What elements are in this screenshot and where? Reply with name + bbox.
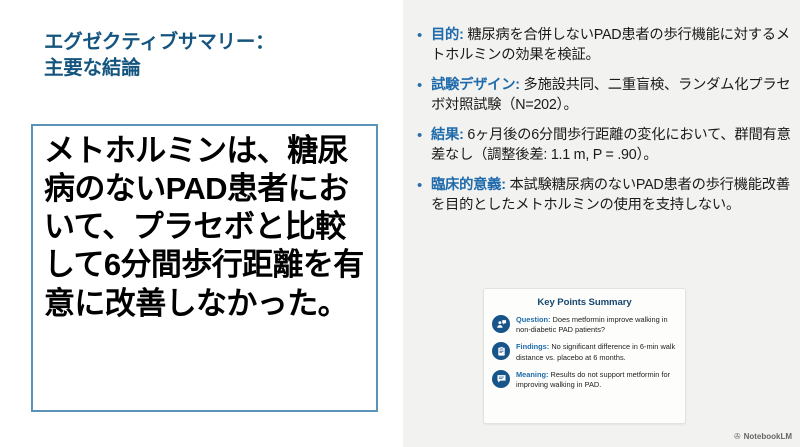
question-person-icon (492, 315, 510, 333)
key-point-row: Findings: No significant difference in 6… (492, 342, 685, 362)
clipboard-icon (492, 342, 510, 360)
notebooklm-logo-icon: ✇ (734, 433, 741, 441)
key-points-summary-card: Key Points Summary Question: Does metfor… (483, 288, 686, 424)
key-point-row: Question: Does metformin improve walking… (492, 315, 685, 335)
key-point-label: Findings: (516, 342, 549, 351)
key-point-row: Meaning: Results do not support metformi… (492, 370, 685, 390)
list-item: • 結果: 6ヶ月後の6分間歩行距離の変化において、群間有意差なし（調整後差: … (416, 126, 792, 165)
slide-canvas: エグゼクティブサマリー： 主要な結論 メトホルミンは、糖尿病のないPAD患者にお… (0, 0, 800, 447)
bullet-label: 結果: (431, 127, 464, 143)
key-point-label: Question: (516, 315, 551, 324)
left-panel: エグゼクティブサマリー： 主要な結論 メトホルミンは、糖尿病のないPAD患者にお… (0, 0, 403, 447)
list-item: • 試験デザイン: 多施設共同、二重盲検、ランダム化プラセボ対照試験（N=202… (416, 76, 792, 115)
bullet-marker-icon: • (416, 126, 431, 165)
speech-bubble-icon (492, 370, 510, 388)
bullet-body: 試験デザイン: 多施設共同、二重盲検、ランダム化プラセボ対照試験（N=202）。 (431, 76, 792, 115)
key-points-title: Key Points Summary (484, 297, 685, 308)
bullet-marker-icon: • (416, 76, 431, 115)
key-point-text: Findings: No significant difference in 6… (516, 342, 678, 362)
key-point-text: Meaning: Results do not support metformi… (516, 370, 678, 390)
bullet-text: 6ヶ月後の6分間歩行距離の変化において、群間有意差なし（調整後差: 1.1 m,… (431, 127, 791, 163)
notebooklm-label: NotebookLM (744, 432, 792, 441)
bullet-text: 糖尿病を合併しないPAD患者の歩行機能に対するメトホルミンの効果を検証。 (431, 27, 790, 63)
bullet-marker-icon: • (416, 176, 431, 215)
bullet-list: • 目的: 糖尿病を合併しないPAD患者の歩行機能に対するメトホルミンの効果を検… (416, 26, 792, 227)
key-point-label: Meaning: (516, 370, 548, 379)
bullet-label: 目的: (431, 27, 464, 43)
right-panel: • 目的: 糖尿病を合併しないPAD患者の歩行機能に対するメトホルミンの効果を検… (403, 0, 800, 447)
page-title: エグゼクティブサマリー： 主要な結論 (44, 30, 374, 81)
bullet-marker-icon: • (416, 26, 431, 65)
headline-text: メトホルミンは、糖尿病のないPAD患者において、プラセボと比較して6分間歩行距離… (44, 132, 370, 323)
list-item: • 臨床的意義: 本試験糖尿病のないPAD患者の歩行機能改善を目的としたメトホル… (416, 176, 792, 215)
bullet-label: 試験デザイン: (431, 77, 520, 93)
bullet-body: 臨床的意義: 本試験糖尿病のないPAD患者の歩行機能改善を目的としたメトホルミン… (431, 176, 792, 215)
bullet-body: 結果: 6ヶ月後の6分間歩行距離の変化において、群間有意差なし（調整後差: 1.… (431, 126, 792, 165)
list-item: • 目的: 糖尿病を合併しないPAD患者の歩行機能に対するメトホルミンの効果を検… (416, 26, 792, 65)
notebooklm-watermark: ✇ NotebookLM (734, 432, 792, 441)
headline-box: メトホルミンは、糖尿病のないPAD患者において、プラセボと比較して6分間歩行距離… (31, 124, 378, 412)
key-point-text: Question: Does metformin improve walking… (516, 315, 678, 335)
bullet-body: 目的: 糖尿病を合併しないPAD患者の歩行機能に対するメトホルミンの効果を検証。 (431, 26, 792, 65)
bullet-label: 臨床的意義: (431, 177, 506, 193)
